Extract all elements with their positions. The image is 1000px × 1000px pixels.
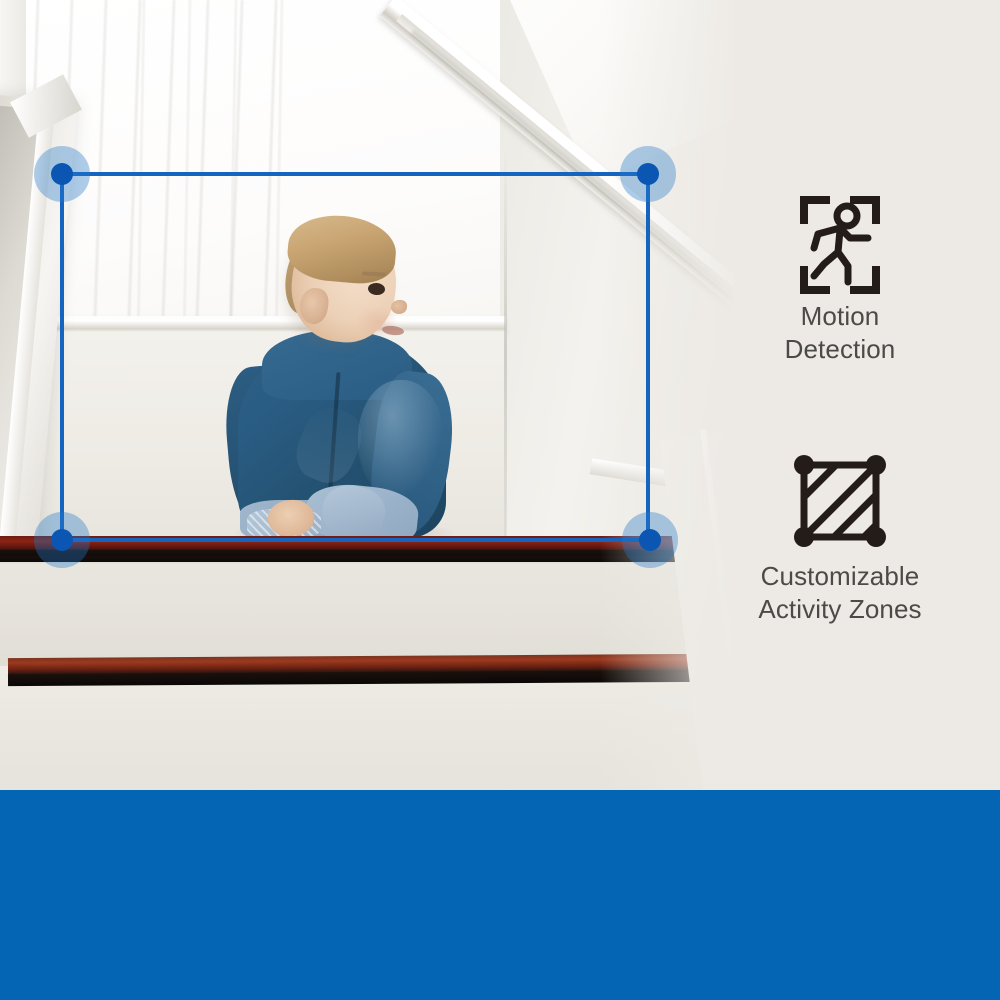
feature-motion-detection: Motion Detection (710, 190, 970, 366)
photo-right-fade (600, 0, 735, 790)
bottom-banner: Motion Detection and Notifications Contr… (0, 790, 1000, 1000)
feature-activity-zones: Customizable Activity Zones (710, 450, 970, 626)
screenshot-canvas: Motion Detection (0, 0, 1000, 1000)
stairwell-photo (0, 0, 735, 790)
motion-detection-icon (710, 190, 970, 300)
baby-onesie-highlight (358, 380, 444, 500)
photo-bottom-fade (0, 720, 735, 790)
activity-zones-icon (710, 450, 970, 560)
stair-riser-shadow (0, 556, 682, 564)
feature-activity-zones-label: Customizable Activity Zones (710, 560, 970, 626)
baby-nose (391, 300, 407, 314)
wall-corner (504, 150, 507, 550)
feature-motion-detection-label: Motion Detection (710, 300, 970, 366)
dado-rail (26, 316, 506, 332)
